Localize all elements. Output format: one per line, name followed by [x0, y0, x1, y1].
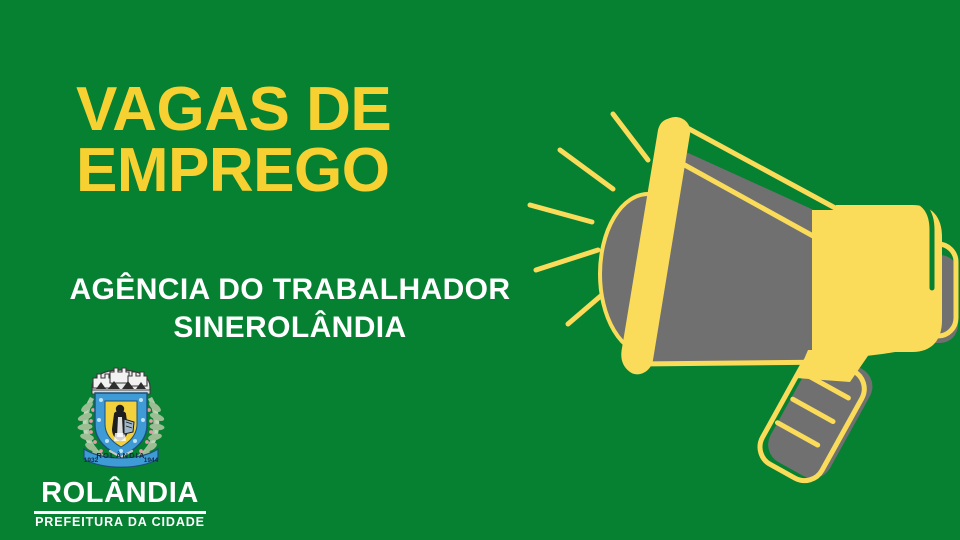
wordmark-divider	[34, 511, 206, 514]
page-title: VAGAS DE EMPREGO	[76, 80, 556, 202]
city-wordmark: ROLÂNDIA PREFEITURA DA CIDADE	[34, 479, 206, 529]
page-subtitle: AGÊNCIA DO TRABALHADOR SINEROLÂNDIA	[0, 271, 580, 347]
wordmark-city: ROLÂNDIA	[34, 479, 206, 508]
megaphone-icon	[520, 92, 960, 492]
subtitle-line-1: AGÊNCIA DO TRABALHADOR	[0, 271, 580, 309]
ribbon-year-left: 1932	[84, 457, 99, 464]
subtitle-line-2: SINEROLÂNDIA	[0, 309, 580, 347]
city-logo: ROLÂNDIA 1932 1944 ROLÂNDIA PREFEITURA D…	[32, 363, 208, 529]
wordmark-tagline: PREFEITURA DA CIDADE	[34, 516, 206, 529]
headline-line-2: EMPREGO	[76, 141, 556, 202]
ribbon-year-right: 1944	[144, 457, 159, 464]
coat-of-arms-icon: ROLÂNDIA 1932 1944	[62, 363, 180, 475]
headline-line-1: VAGAS DE	[76, 80, 556, 141]
ribbon-city-label: ROLÂNDIA	[96, 451, 145, 460]
poster-canvas: VAGAS DE EMPREGO AGÊNCIA DO TRABALHADOR …	[0, 0, 960, 540]
